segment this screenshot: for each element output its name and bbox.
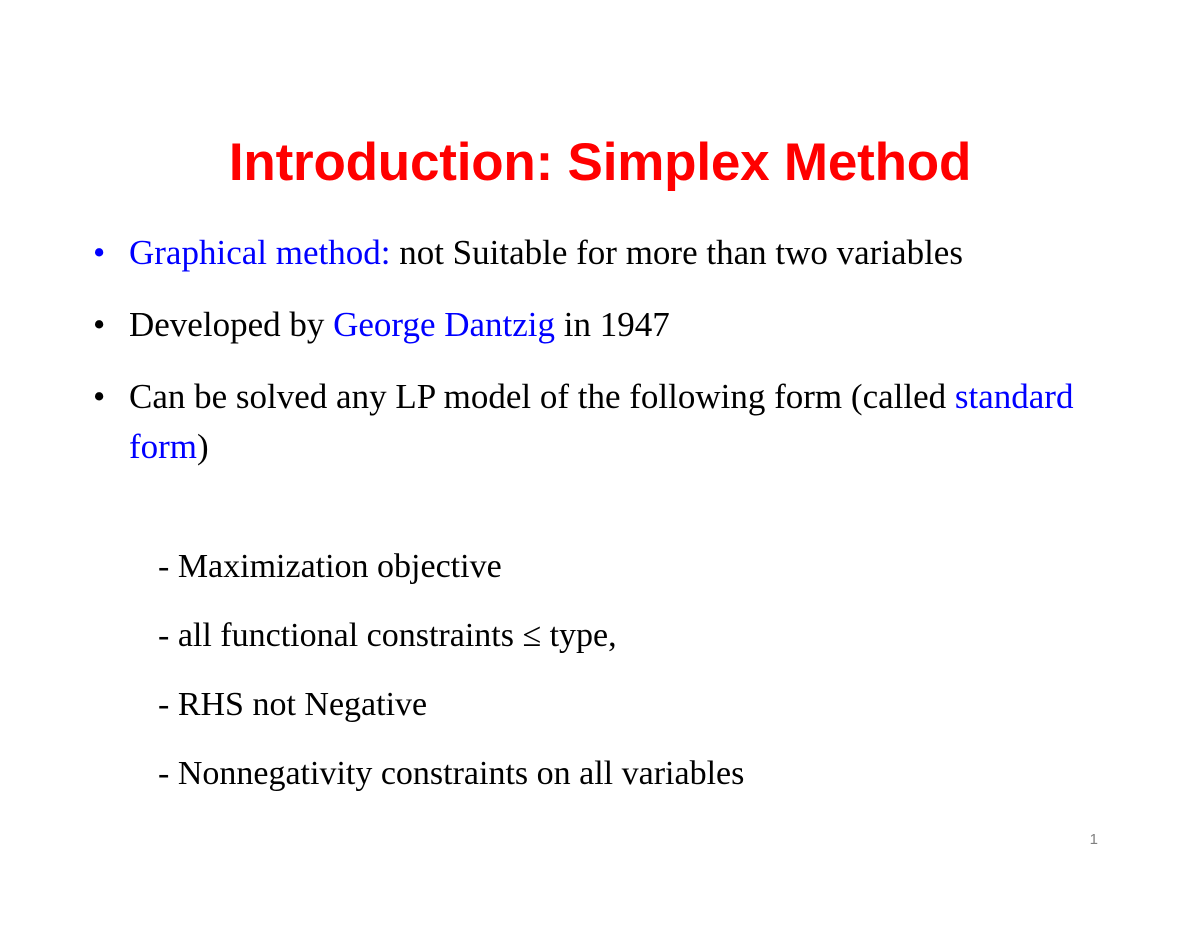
- bullet-dot-icon: •: [93, 228, 105, 278]
- list-item-run-highlight: Graphical method:: [129, 233, 390, 272]
- page-number: 1: [1090, 831, 1098, 849]
- list-item-run-highlight: George Dantzig: [333, 305, 555, 344]
- sub-list-item: - Nonnegativity constraints on all varia…: [158, 752, 1108, 796]
- slide-canvas: Introduction: Simplex Method • Graphical…: [0, 0, 1200, 927]
- list-item-text: Graphical method: not Suitable for more …: [129, 233, 963, 272]
- sub-list-item: - all functional constraints ≤ type,: [158, 614, 1108, 658]
- sub-bullet-list: - Maximization objective - all functiona…: [158, 545, 1108, 821]
- page-title: Introduction: Simplex Method: [0, 132, 1200, 194]
- bullet-list: • Graphical method: not Suitable for mor…: [85, 228, 1085, 494]
- sub-list-item: - Maximization objective: [158, 545, 1108, 589]
- sub-list-item: - RHS not Negative: [158, 683, 1108, 727]
- bullet-dot-icon: •: [93, 372, 105, 422]
- list-item-run-body: Developed by: [129, 305, 333, 344]
- list-item-text: Can be solved any LP model of the follow…: [129, 377, 1073, 466]
- list-item-run-body-tail: in 1947: [555, 305, 670, 344]
- list-item-run-body: Can be solved any LP model of the follow…: [129, 377, 955, 416]
- list-item: • Can be solved any LP model of the foll…: [85, 372, 1085, 472]
- list-item: • Developed by George Dantzig in 1947: [85, 300, 1085, 350]
- list-item-run-body: not Suitable for more than two variables: [390, 233, 963, 272]
- list-item-run-body-tail: ): [197, 427, 209, 466]
- list-item-text: Developed by George Dantzig in 1947: [129, 305, 670, 344]
- list-item: • Graphical method: not Suitable for mor…: [85, 228, 1085, 278]
- bullet-dot-icon: •: [93, 300, 105, 350]
